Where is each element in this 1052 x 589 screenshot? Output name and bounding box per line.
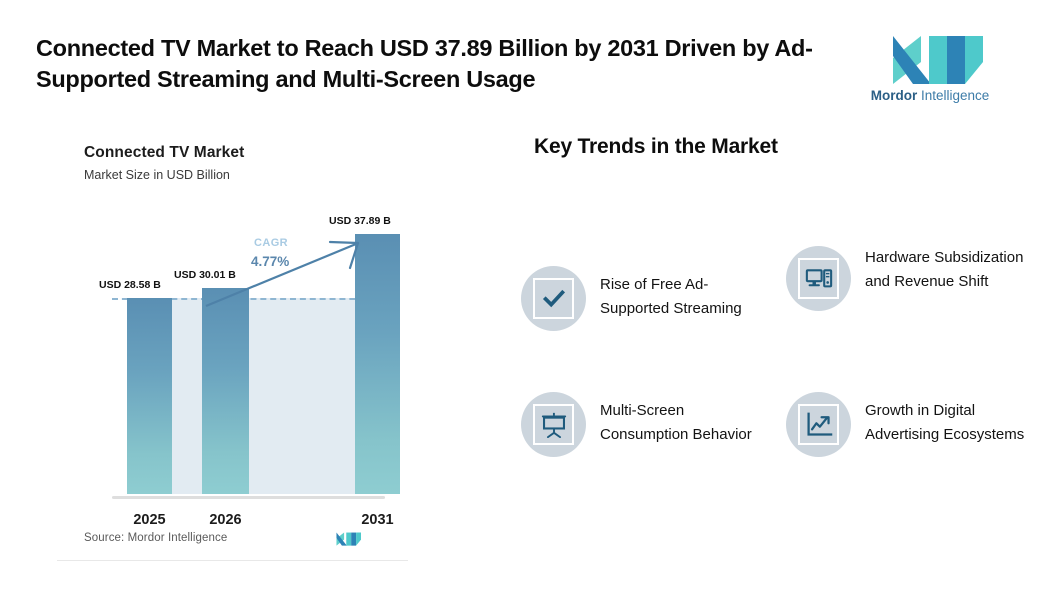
trend-label-4: Growth in Digital Advertising Ecosystems <box>865 392 1036 447</box>
desktop-computer-icon <box>798 258 839 299</box>
trend-item-1: Rise of Free Ad-Supported Streaming <box>521 266 771 331</box>
x-tick-2026: 2026 <box>202 512 249 528</box>
mordor-m-logo-icon <box>873 28 983 84</box>
infographic-page: Connected TV Market to Reach USD 37.89 B… <box>0 0 1052 589</box>
presentation-board-glyph <box>540 412 568 438</box>
desktop-computer-glyph <box>805 266 833 292</box>
growth-chart-glyph <box>805 412 833 438</box>
growth-chart-icon <box>798 404 839 445</box>
x-axis-line <box>112 496 385 499</box>
page-title: Connected TV Market to Reach USD 37.89 B… <box>36 33 846 95</box>
check-mark-glyph <box>540 285 568 313</box>
cagr-value: 4.77% <box>251 254 289 269</box>
bar-2025 <box>127 298 172 494</box>
cagr-label: CAGR <box>254 237 288 249</box>
bar-label-2025: USD 28.58 B <box>99 279 161 291</box>
brand-wordmark-light: Intelligence <box>917 88 989 103</box>
presentation-board-icon <box>533 404 574 445</box>
trend-icon-circle <box>521 392 586 457</box>
brand-wordmark: Mordor Intelligence <box>866 88 994 104</box>
bar-2026 <box>202 288 249 494</box>
x-tick-2031: 2031 <box>355 512 400 528</box>
trend-label-2: Hardware Subsidization and Revenue Shift <box>865 246 1036 294</box>
trend-label-3: Multi-Screen Consumption Behavior <box>600 392 771 447</box>
chart-title: Connected TV Market <box>84 144 244 162</box>
header: Connected TV Market to Reach USD 37.89 B… <box>0 0 1052 118</box>
brand-wordmark-bold: Mordor <box>871 88 918 103</box>
trend-label-1: Rise of Free Ad-Supported Streaming <box>600 266 771 321</box>
bar-label-2031: USD 37.89 B <box>329 215 391 227</box>
bar-chart-plot: USD 28.58 B 2025 USD 30.01 B 2026 USD 37… <box>84 212 390 502</box>
key-trends-heading: Key Trends in the Market <box>534 135 778 159</box>
chart-source: Source: Mordor Intelligence <box>84 532 227 544</box>
trend-icon-circle <box>521 266 586 331</box>
trend-item-3: Multi-Screen Consumption Behavior <box>521 392 771 457</box>
trend-icon-circle <box>786 392 851 457</box>
check-mark-icon <box>533 278 574 319</box>
chart-card: Connected TV Market Market Size in USD B… <box>57 117 408 561</box>
x-tick-2025: 2025 <box>127 512 172 528</box>
brand-logo: Mordor Intelligence <box>866 28 994 110</box>
trend-item-4: Growth in Digital Advertising Ecosystems <box>786 392 1036 457</box>
trend-item-2: Hardware Subsidization and Revenue Shift <box>786 246 1036 311</box>
cagr-arrow-icon <box>204 232 394 312</box>
mordor-m-logo-small-icon <box>331 529 361 547</box>
trend-icon-circle <box>786 246 851 311</box>
chart-subtitle: Market Size in USD Billion <box>84 168 230 182</box>
